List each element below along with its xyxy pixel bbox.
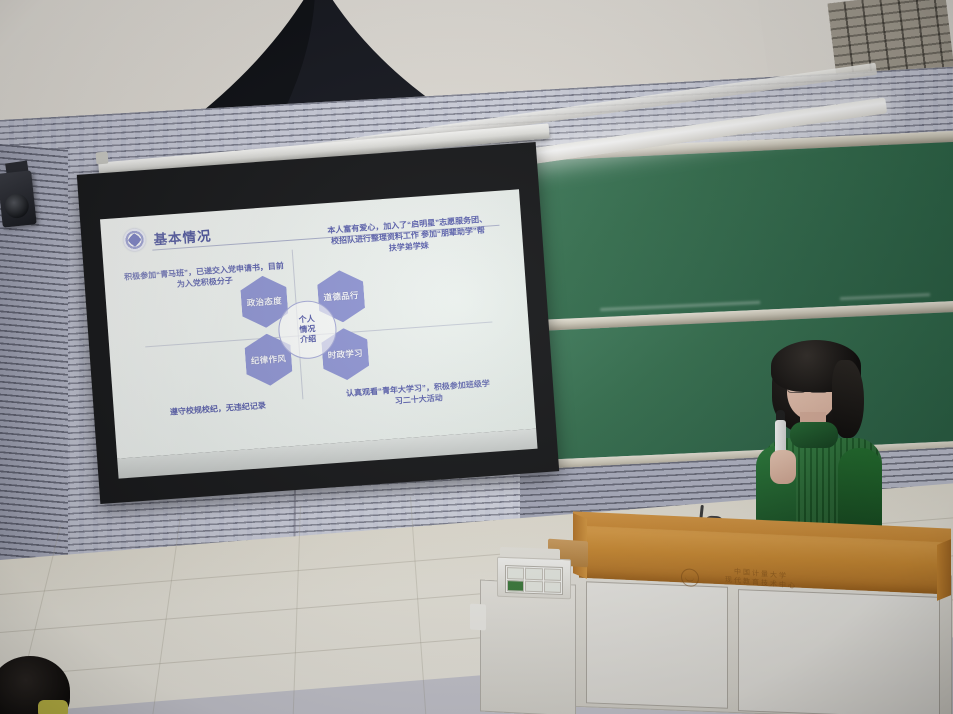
- speaker-cone-icon: [4, 193, 30, 219]
- wall-speaker: [0, 170, 37, 227]
- projection-screen[interactable]: 基本情况 政治态度 道德品行 纪律作风: [77, 142, 559, 504]
- audience-member-shoulder: [38, 700, 68, 714]
- floor-grout-line: [292, 506, 301, 714]
- classroom-photo: 基本情况 政治态度 道德品行 纪律作风: [0, 0, 953, 714]
- podium-right-edge: [937, 539, 951, 601]
- microphone[interactable]: [775, 420, 786, 454]
- label-icon-cell: [525, 580, 542, 592]
- presenter-hair-side: [832, 360, 864, 438]
- slide-caption-bottom-right: 认真观看“青年大学习”，积极参加班级学习二十大活动: [343, 378, 494, 411]
- university-emblem-icon: [123, 228, 147, 252]
- hexagon-label: 时政学习: [327, 347, 363, 361]
- slide-title: 基本情况: [153, 224, 212, 248]
- slide-caption-top-right: 本人富有爱心，加入了“启明星”志愿服务团、校招队进行整理资料工作 参加“朋辈助学…: [327, 214, 489, 258]
- equipment-box-instruction-label: [505, 565, 563, 595]
- small-white-object: [470, 603, 486, 630]
- label-icon-cell: [544, 581, 561, 593]
- chalk-dust-smudge: [840, 293, 930, 300]
- presentation-slide: 基本情况 政治态度 道德品行 纪律作风: [100, 189, 536, 458]
- chalkboard-panel-upper: [533, 141, 953, 319]
- side-cabinet[interactable]: [480, 579, 576, 714]
- projection-screen-surface: 基本情况 政治态度 道德品行 纪律作风: [100, 189, 536, 458]
- label-icon-cell-green: [507, 580, 524, 592]
- hexagon-label: 政治态度: [246, 295, 282, 309]
- presenter-hand: [770, 450, 796, 484]
- podium-engraving: 中国计量大学 现代教育技术中心: [671, 562, 851, 596]
- label-icon-cell: [525, 568, 542, 580]
- emblem-inner-diamond: [128, 233, 142, 247]
- slide-caption-bottom-left: 遵守校规校纪，无违纪记录: [138, 398, 298, 420]
- label-icon-cell: [507, 567, 524, 579]
- label-icon-cell: [544, 568, 561, 580]
- presenter-turtleneck-collar: [790, 422, 838, 448]
- hexagon-label: 纪律作风: [250, 352, 286, 366]
- chalk-dust-smudge: [600, 301, 760, 311]
- projection-screen-housing-end-cap: [95, 151, 108, 164]
- hexagon-label: 道德品行: [323, 289, 359, 303]
- center-node-label: 个人情况介绍: [298, 314, 316, 345]
- floor-grout-line: [410, 497, 427, 714]
- podium: 中国计量大学 现代教育技术中心: [573, 512, 951, 630]
